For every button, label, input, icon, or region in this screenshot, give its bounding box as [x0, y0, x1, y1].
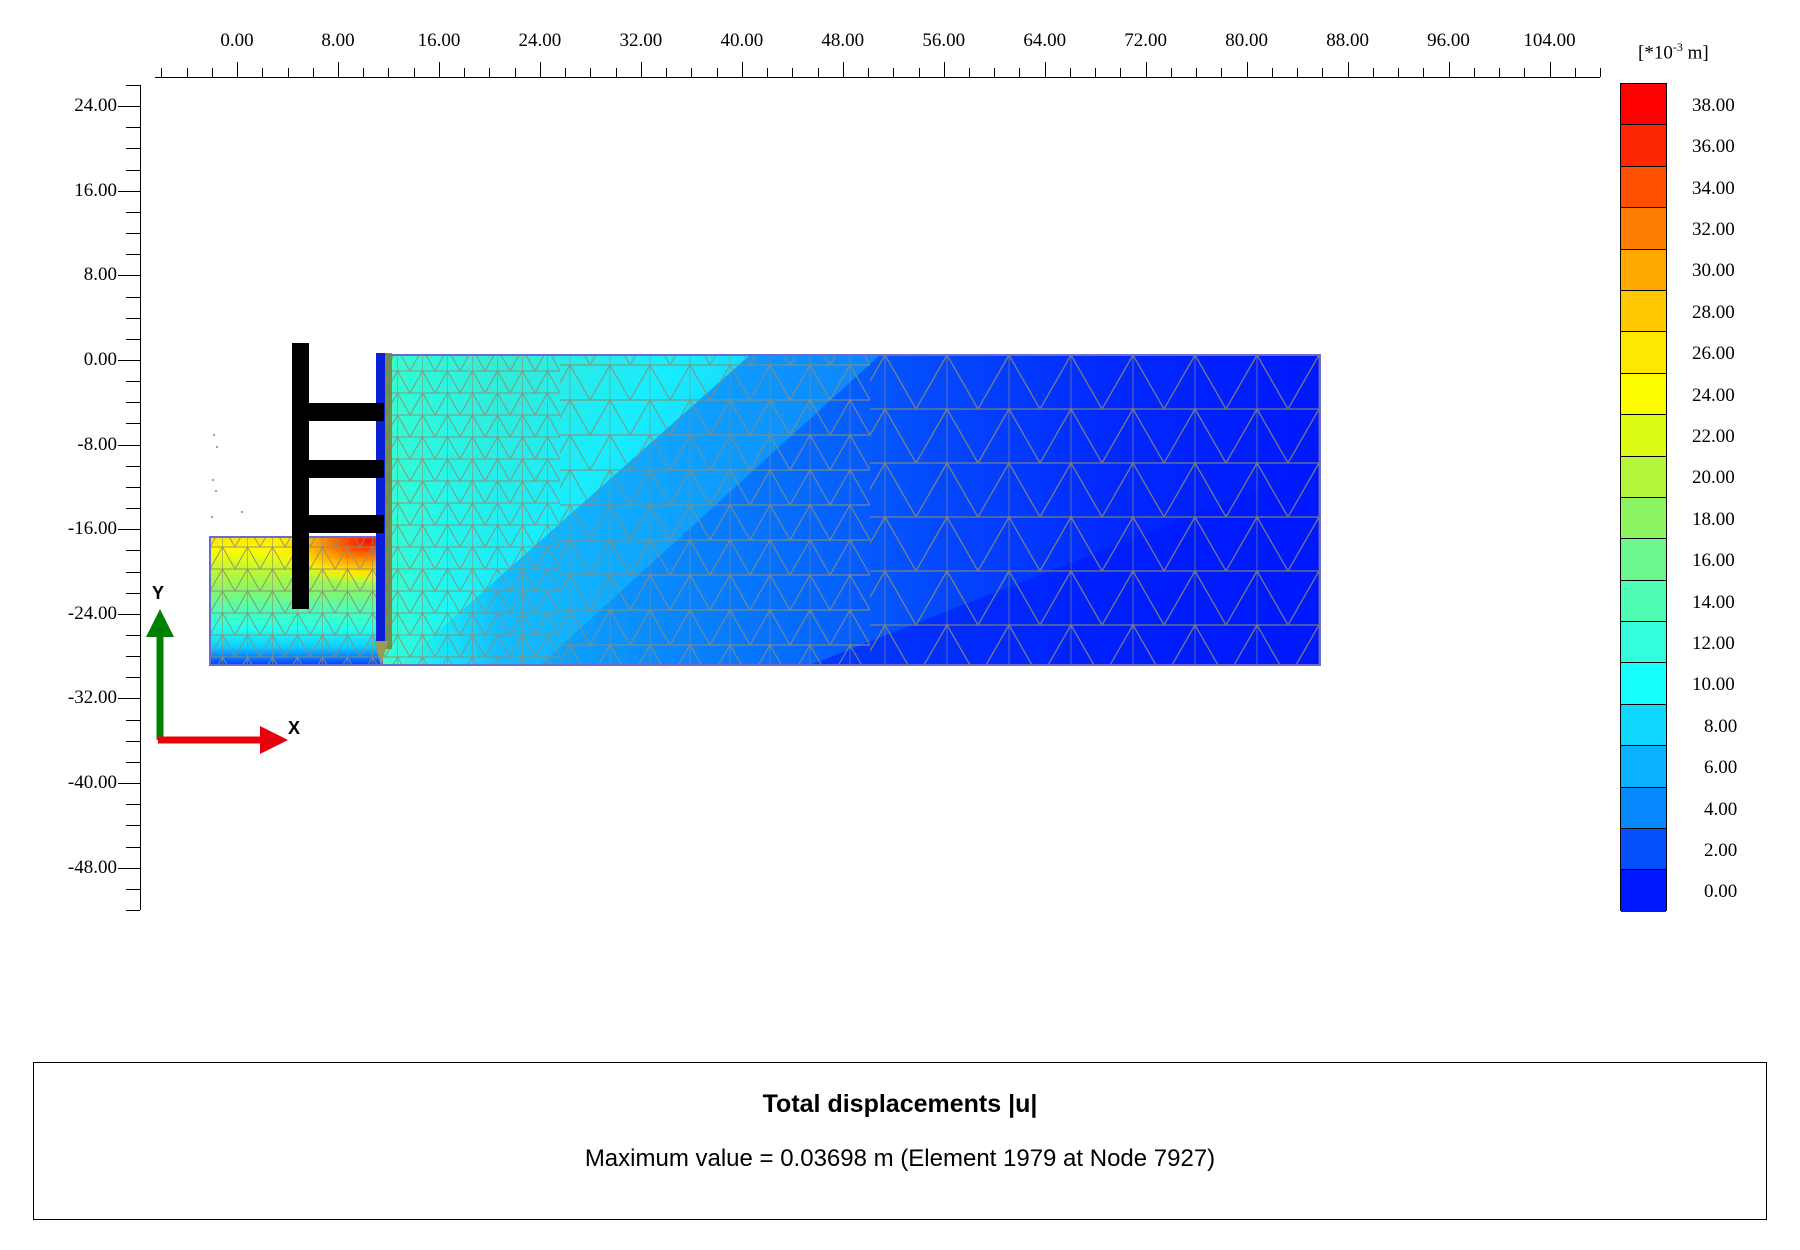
caption-subtitle: Maximum value = 0.03698 m (Element 1979 …: [34, 1145, 1766, 1173]
colorbar-tick-label: 22.00: [1692, 426, 1735, 448]
x-minor-tick: [1322, 68, 1323, 77]
x-tick-label: 56.00: [922, 30, 965, 52]
colorbar-tick-label: 2.00: [1704, 840, 1737, 862]
colorbar-band: [1621, 829, 1666, 870]
x-tick-label: 32.00: [619, 30, 662, 52]
y-minor-tick: [126, 910, 140, 911]
x-major-tick: [1348, 62, 1349, 77]
x-major-tick: [338, 62, 339, 77]
x-major-tick: [1550, 62, 1551, 77]
x-minor-tick: [187, 68, 188, 77]
x-tick-label: 8.00: [321, 30, 354, 52]
colorbar-tick-label: 20.00: [1692, 467, 1735, 489]
x-minor-tick: [1297, 68, 1298, 77]
x-axis-arrow-icon: [158, 726, 288, 754]
x-major-tick: [439, 62, 440, 77]
colorbar-band: [1621, 415, 1666, 456]
colorbar-tick-label: 32.00: [1692, 219, 1735, 241]
colorbar-band: [1621, 622, 1666, 663]
x-minor-tick: [161, 68, 162, 77]
colorbar-tick-label: 38.00: [1692, 95, 1735, 117]
x-minor-tick: [313, 68, 314, 77]
x-tick-label: 88.00: [1326, 30, 1369, 52]
x-major-tick: [1045, 62, 1046, 77]
colorbar-tick-label: 10.00: [1692, 674, 1735, 696]
x-tick-label: 40.00: [720, 30, 763, 52]
x-major-tick: [641, 62, 642, 77]
strut-middle: [306, 460, 384, 478]
colorbar-tick-label: 26.00: [1692, 343, 1735, 365]
x-minor-tick: [1120, 68, 1121, 77]
gizmo-x-label: X: [288, 718, 300, 739]
x-axis-line: [155, 77, 1600, 78]
colorbar-band: [1621, 581, 1666, 622]
x-major-tick: [742, 62, 743, 77]
x-tick-label: 48.00: [821, 30, 864, 52]
strut-upper: [306, 403, 384, 421]
x-minor-tick: [1600, 68, 1601, 77]
colorbar-band: [1621, 788, 1666, 829]
x-minor-tick: [666, 68, 667, 77]
colorbar-tick-label: 36.00: [1692, 136, 1735, 158]
x-minor-tick: [818, 68, 819, 77]
x-minor-tick: [767, 68, 768, 77]
x-tick-label: 0.00: [220, 30, 253, 52]
x-minor-tick: [1221, 68, 1222, 77]
x-minor-tick: [1524, 68, 1525, 77]
colorbar-tick-label: 8.00: [1704, 716, 1737, 738]
colorbar-band: [1621, 663, 1666, 704]
caption-title: Total displacements |u|: [34, 1090, 1766, 1119]
x-tick-label: 72.00: [1124, 30, 1167, 52]
colorbar-strip[interactable]: [1620, 83, 1667, 911]
colorbar-band: [1621, 208, 1666, 249]
x-minor-tick: [691, 68, 692, 77]
colorbar-band: [1621, 374, 1666, 415]
x-tick-label: 16.00: [418, 30, 461, 52]
retaining-wall-plate: [376, 353, 385, 649]
x-minor-tick: [792, 68, 793, 77]
unit-exponent: -3: [1673, 40, 1683, 54]
colorbar-band: [1621, 746, 1666, 787]
colorbar-legend: [*10-3 m] 38.0036.0034.0032.0030.0028.00…: [1620, 40, 1790, 920]
x-minor-tick: [1019, 68, 1020, 77]
x-minor-tick: [1272, 68, 1273, 77]
x-minor-tick: [414, 68, 415, 77]
caption-panel: Total displacements |u| Maximum value = …: [33, 1062, 1767, 1220]
colorbar-tick-label: 30.00: [1692, 260, 1735, 282]
axis-orientation-gizmo: Y X: [130, 575, 330, 755]
x-tick-label: 24.00: [519, 30, 562, 52]
colorbar-tick-label: 12.00: [1692, 633, 1735, 655]
x-minor-tick: [590, 68, 591, 77]
x-minor-tick: [717, 68, 718, 77]
x-major-tick: [843, 62, 844, 77]
x-major-tick: [237, 62, 238, 77]
colorbar-tick-label: 24.00: [1692, 385, 1735, 407]
colorbar-tick-label: 34.00: [1692, 178, 1735, 200]
x-minor-tick: [1398, 68, 1399, 77]
x-minor-tick: [288, 68, 289, 77]
colorbar-band: [1621, 870, 1666, 911]
colorbar-tick-label: 18.00: [1692, 509, 1735, 531]
x-major-tick: [944, 62, 945, 77]
mesh-coarse-farfield: [870, 355, 1320, 665]
mesh-medium: [560, 355, 870, 665]
x-minor-tick: [388, 68, 389, 77]
colorbar-band: [1621, 539, 1666, 580]
colorbar-band: [1621, 84, 1666, 125]
model-plot-area[interactable]: [110, 85, 1600, 910]
x-major-tick: [1449, 62, 1450, 77]
x-axis-ruler: 0.008.0016.0024.0032.0040.0048.0056.0064…: [155, 30, 1600, 85]
gizmo-y-label: Y: [152, 583, 164, 604]
x-minor-tick: [1171, 68, 1172, 77]
colorbar-band: [1621, 125, 1666, 166]
colorbar-band: [1621, 291, 1666, 332]
x-tick-label: 80.00: [1225, 30, 1268, 52]
y-axis-arrow-icon: [146, 609, 174, 740]
x-minor-tick: [919, 68, 920, 77]
colorbar-band: [1621, 498, 1666, 539]
x-minor-tick: [868, 68, 869, 77]
x-minor-tick: [969, 68, 970, 77]
x-tick-label: 96.00: [1427, 30, 1470, 52]
x-minor-tick: [212, 68, 213, 77]
unit-prefix: [*10: [1638, 42, 1673, 63]
colorbar-tick-label: 4.00: [1704, 799, 1737, 821]
x-minor-tick: [565, 68, 566, 77]
x-minor-tick: [994, 68, 995, 77]
displacement-contour-plot: [110, 85, 1600, 910]
x-minor-tick: [1575, 68, 1576, 77]
colorbar-band: [1621, 457, 1666, 498]
colorbar-tick-label: 6.00: [1704, 757, 1737, 779]
x-tick-label: 104.00: [1523, 30, 1575, 52]
x-minor-tick: [1196, 68, 1197, 77]
colorbar-unit-label: [*10-3 m]: [1638, 40, 1709, 64]
colorbar-band: [1621, 167, 1666, 208]
x-major-tick: [1146, 62, 1147, 77]
unit-suffix: m]: [1683, 42, 1709, 63]
x-minor-tick: [363, 68, 364, 77]
colorbar-band: [1621, 250, 1666, 291]
wall-interface-element: [385, 353, 392, 649]
colorbar-band: [1621, 705, 1666, 746]
colorbar-tick-label: 16.00: [1692, 550, 1735, 572]
x-minor-tick: [616, 68, 617, 77]
x-minor-tick: [1474, 68, 1475, 77]
x-minor-tick: [1423, 68, 1424, 77]
x-minor-tick: [1499, 68, 1500, 77]
x-minor-tick: [1095, 68, 1096, 77]
x-minor-tick: [893, 68, 894, 77]
x-minor-tick: [489, 68, 490, 77]
soil-body-main: [380, 355, 1320, 665]
colorbar-tick-label: 28.00: [1692, 302, 1735, 324]
x-major-tick: [1247, 62, 1248, 77]
x-major-tick: [540, 62, 541, 77]
x-minor-tick: [262, 68, 263, 77]
mesh-fine-nearwall: [380, 355, 560, 665]
x-minor-tick: [464, 68, 465, 77]
colorbar-tick-label: 14.00: [1692, 592, 1735, 614]
x-tick-label: 64.00: [1023, 30, 1066, 52]
colorbar-band: [1621, 332, 1666, 373]
colorbar-tick-labels: 38.0036.0034.0032.0030.0028.0026.0024.00…: [1678, 83, 1788, 911]
colorbar-tick-label: 0.00: [1704, 881, 1737, 903]
stray-node-markers: [211, 434, 243, 518]
x-minor-tick: [515, 68, 516, 77]
plaxis-output-sheet: 0.008.0016.0024.0032.0040.0048.0056.0064…: [0, 0, 1800, 1250]
x-minor-tick: [1373, 68, 1374, 77]
x-minor-tick: [1070, 68, 1071, 77]
strut-lower: [306, 515, 384, 533]
